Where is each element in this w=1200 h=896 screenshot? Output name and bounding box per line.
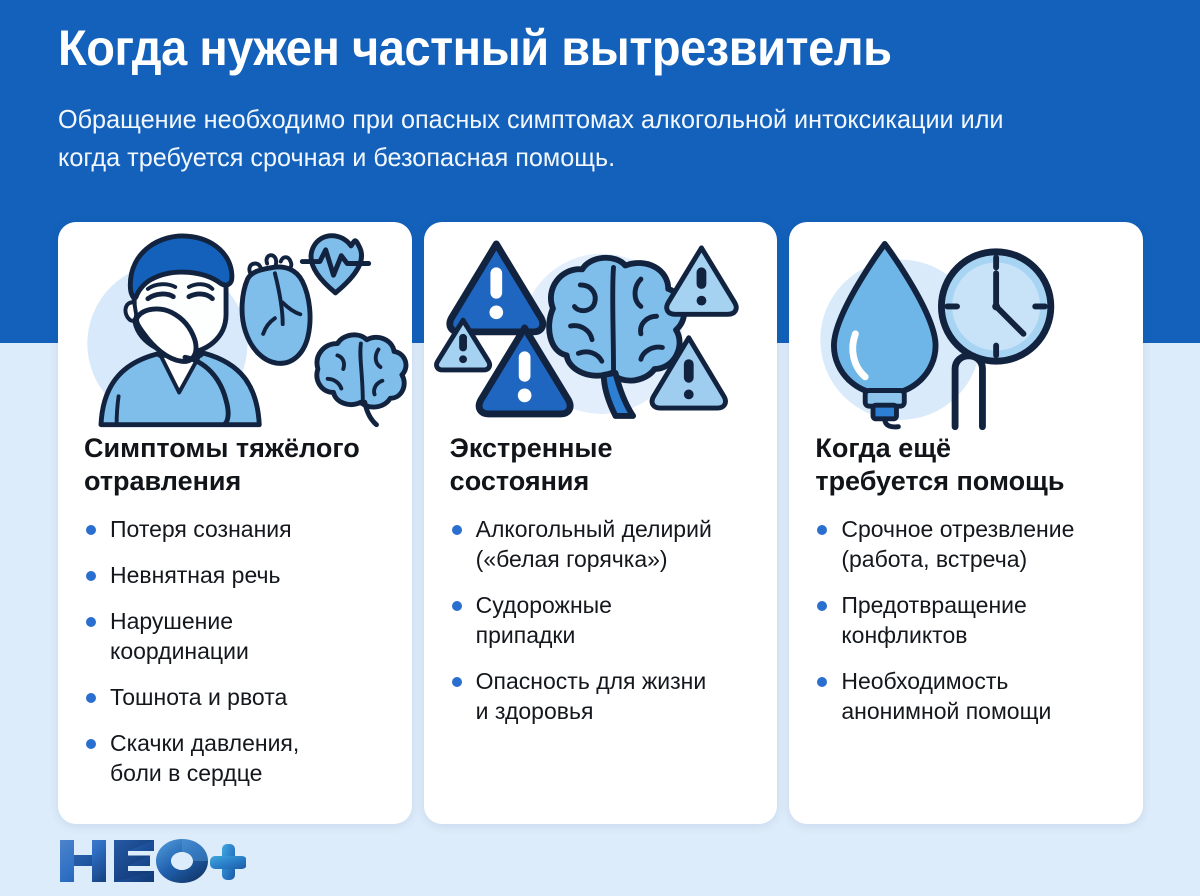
bullet-dot-icon (817, 677, 827, 687)
neo-plus-logo[interactable] (58, 838, 246, 884)
bullet-dot-icon (817, 601, 827, 611)
list-item-label: Срочное отрезвление (работа, встреча) (841, 516, 1074, 572)
list-item-label: Потеря сознания (110, 516, 292, 542)
list-item: Опасность для жизни и здоровья (450, 666, 756, 726)
bullet-dot-icon (452, 525, 462, 535)
logo-plus-icon (210, 844, 246, 880)
card-severe-poisoning-symptoms[interactable]: Симптомы тяжёлого отравления Потеря созн… (58, 222, 412, 824)
list-item: Нарушение координации (84, 606, 390, 666)
list-item: Судорожные припадки (450, 590, 756, 650)
card-bullet-list: Потеря сознания Невнятная речь Нарушение… (84, 514, 390, 788)
bullet-dot-icon (452, 677, 462, 687)
list-item: Предотвращение конфликтов (815, 590, 1121, 650)
logo-letter-e (114, 840, 154, 882)
page-subtitle: Обращение необходимо при опасных симптом… (58, 100, 1047, 176)
list-item: Необходимость анонимной помощи (815, 666, 1121, 726)
card-emergency-conditions[interactable]: Экстренные состояния Алкогольный делирий… (424, 222, 778, 824)
list-item-label: Нарушение координации (110, 608, 249, 664)
brain-with-warning-triangles-illustration (424, 222, 778, 432)
list-item-label: Необходимость анонимной помощи (841, 668, 1051, 724)
card-body: Экстренные состояния Алкогольный делирий… (424, 432, 778, 744)
page-title: Когда нужен частный вытрезвитель (58, 18, 1083, 78)
card-heading: Симптомы тяжёлого отравления (84, 432, 390, 498)
card-bullet-list: Срочное отрезвление (работа, встреча) Пр… (815, 514, 1121, 726)
list-item-label: Тошнота и рвота (110, 684, 287, 710)
list-item-label: Опасность для жизни и здоровья (476, 668, 707, 724)
header-content: Когда нужен частный вытрезвитель Обращен… (58, 18, 1148, 176)
card-body: Симптомы тяжёлого отравления Потеря созн… (58, 432, 412, 806)
list-item: Срочное отрезвление (работа, встреча) (815, 514, 1121, 574)
bullet-dot-icon (86, 525, 96, 535)
card-heading: Экстренные состояния (450, 432, 756, 498)
heartbeat-heart-icon (302, 236, 368, 293)
list-item-label: Скачки давления, боли в сердце (110, 730, 299, 786)
brain-icon (317, 335, 406, 425)
footer (58, 838, 246, 884)
logo-letter-o (156, 839, 208, 883)
list-item: Тошнота и рвота (84, 682, 390, 712)
bullet-dot-icon (86, 739, 96, 749)
infographic-page: Когда нужен частный вытрезвитель Обращен… (0, 0, 1200, 896)
bullet-dot-icon (817, 525, 827, 535)
list-item: Алкогольный делирий («белая горячка») (450, 514, 756, 574)
bullet-dot-icon (86, 571, 96, 581)
card-when-else-help-needed[interactable]: Когда ещё требуется помощь Срочное отрез… (789, 222, 1143, 824)
bullet-dot-icon (86, 617, 96, 627)
bullet-dot-icon (86, 693, 96, 703)
cards-container: Симптомы тяжёлого отравления Потеря созн… (58, 222, 1143, 824)
anatomical-heart-icon (242, 255, 310, 363)
clock-icon (942, 252, 1051, 361)
iv-drip-and-clock-illustration (789, 222, 1143, 432)
nauseous-man-heart-brain-illustration (58, 222, 412, 432)
list-item: Потеря сознания (84, 514, 390, 544)
card-body: Когда ещё требуется помощь Срочное отрез… (789, 432, 1143, 744)
bullet-dot-icon (452, 601, 462, 611)
list-item-label: Предотвращение конфликтов (841, 592, 1026, 648)
list-item-label: Алкогольный делирий («белая горячка») (476, 516, 712, 572)
card-heading: Когда ещё требуется помощь (815, 432, 1121, 498)
card-bullet-list: Алкогольный делирий («белая горячка») Су… (450, 514, 756, 726)
list-item-label: Судорожные припадки (476, 592, 612, 648)
list-item: Невнятная речь (84, 560, 390, 590)
warning-triangle-icon (666, 248, 736, 314)
logo-letter-n (60, 840, 106, 882)
list-item-label: Невнятная речь (110, 562, 280, 588)
list-item: Скачки давления, боли в сердце (84, 728, 390, 788)
